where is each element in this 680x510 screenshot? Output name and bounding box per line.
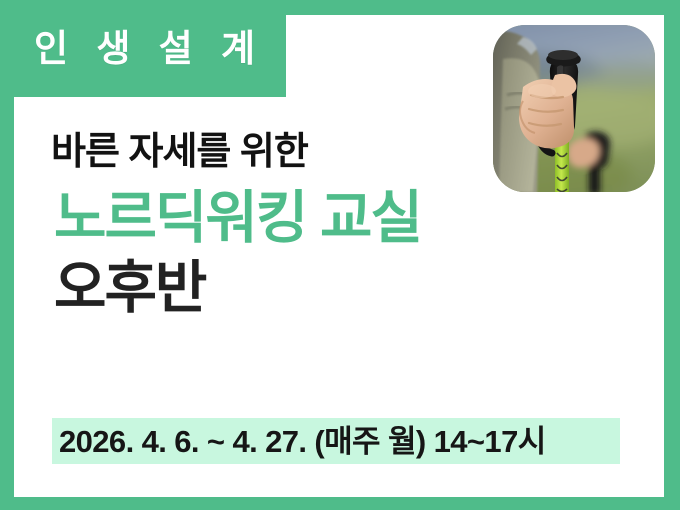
- program-banner: 인 생 설 계: [0, 0, 286, 97]
- program-label: 인 생 설 계: [34, 30, 264, 67]
- poster-subtitle: 바른 자세를 위한: [51, 130, 648, 175]
- promotional-poster: 인 생 설 계: [0, 0, 680, 510]
- frame-border-bottom: [0, 497, 680, 510]
- poster-title: 노르딕워킹 교실: [54, 187, 648, 251]
- frame-border-right: [664, 0, 680, 510]
- schedule-highlight: 2026. 4. 6. ~ 4. 27. (매주 월) 14~17시: [52, 418, 620, 464]
- poster-session: 오후반: [54, 257, 648, 321]
- schedule-text: 2026. 4. 6. ~ 4. 27. (매주 월) 14~17시: [59, 426, 546, 457]
- poster-text-block: 바른 자세를 위한 노르딕워킹 교실 오후반: [48, 130, 648, 320]
